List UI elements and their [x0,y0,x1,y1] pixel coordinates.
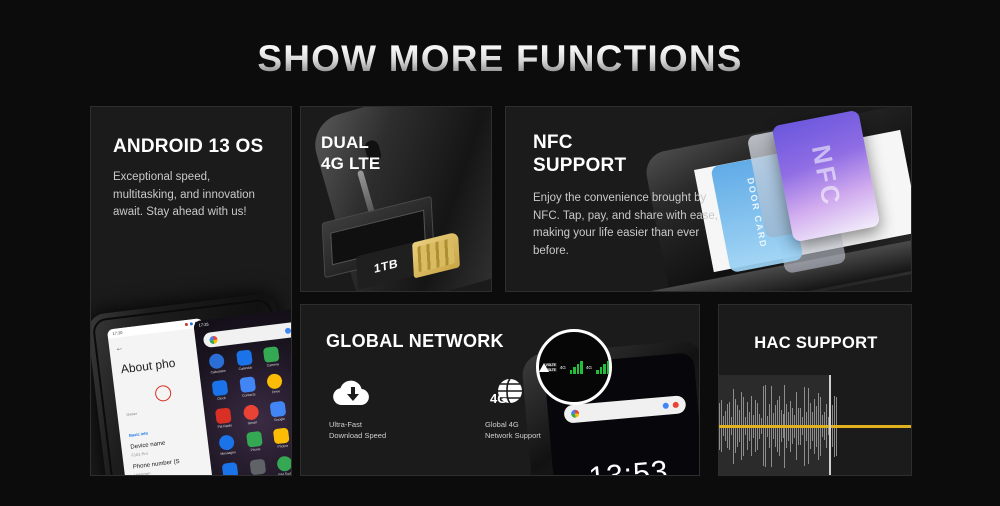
app-icon-messages[interactable]: Messages [212,434,242,458]
app-icon-settings[interactable]: Settings [243,458,273,476]
app-icon-calculator[interactable]: Calculator [202,352,232,376]
feature-download-caption: Ultra-Fast Download Speed [329,420,427,441]
app-icon-drive[interactable]: Drive [260,373,290,397]
dual-lte-title-line2: 4G LTE [321,154,380,175]
app-label: Calendar [239,366,253,371]
storage-capacity-label: 1TB [374,256,399,276]
app-label: Gmail [248,421,257,425]
app-icon-calendar[interactable]: Calendar [230,349,260,373]
app-icon-phone[interactable]: Phone [240,430,270,454]
nfc-body: Enjoy the convenience brought by NFC. Ta… [533,190,718,260]
app-label: FM Radio [217,424,232,429]
global-network-features: Ultra-Fast Download Speed 4G Global 4G N… [329,375,583,441]
global-network-title: GLOBAL NETWORK [326,331,504,353]
app-glyph [219,434,236,451]
promo-page: SHOW MORE FUNCTIONS ANDROID 13 OS Except… [0,0,1000,506]
app-icon-photos[interactable]: Photos [267,427,292,451]
app-label: Camera [267,363,279,368]
nfc-card-primary-label: NFC [805,142,847,209]
app-icon-camera[interactable]: Camera [257,345,287,369]
panel-dual-4g-lte: DUAL 4G LTE 1TB [300,106,492,292]
app-label: Drive [272,391,280,395]
waveform-playhead[interactable] [829,375,831,476]
app-icon-contacts[interactable]: Contacts [233,376,263,400]
nfc-title-line1: NFC [533,131,718,154]
app-icon-clock[interactable]: Clock [206,379,236,403]
app-glyph [276,455,292,472]
panel-global-network: 13:53 13:53 VOLTE VOLTE 4G [300,304,700,476]
app-label: Contacts [242,394,256,399]
dual-lte-header: DUAL 4G LTE [321,133,380,174]
settings-status-time: 17:20 [112,330,123,336]
app-glyph [212,380,229,397]
signal-tag-1: 4G [560,365,566,370]
app-label: Google [274,418,285,423]
wifi-icon [539,363,542,372]
feature-global-4g: 4G Global 4G Network Support [485,375,583,441]
app-glyph [243,404,260,421]
app-icon-google[interactable]: Google [264,400,292,424]
app-glyph [290,343,292,360]
panel-hac-support: HAC SUPPORT [718,304,912,476]
device-sub-label: Owner [126,402,213,417]
lens-icon[interactable] [672,402,679,409]
search-bar-actions[interactable] [285,326,292,334]
app-icon-chrome[interactable]: Chrome [284,342,292,366]
panel-nfc-support: SETUP DOOR CARD NFC NFC SUPPORT Enjoy th… [505,106,912,292]
search-bar-actions[interactable] [663,402,679,409]
signal-bars-sim2 [596,361,609,374]
dual-lte-title-line1: DUAL [321,133,380,154]
settings-row[interactable]: Device name F101 Pro [130,434,218,458]
nfc-title-line2: SUPPORT [533,154,718,177]
app-glyph [263,346,280,363]
app-glyph [270,401,287,418]
app-glyph [249,458,266,475]
global-network-header: GLOBAL NETWORK [326,331,504,353]
waveform-center-line [719,425,912,428]
hac-header: HAC SUPPORT [719,333,912,353]
app-label: Settings [253,475,266,476]
settings-row[interactable]: Phone number (S Unknown [133,454,221,476]
app-label: SIM Toolkit [278,472,292,476]
svg-text:4G: 4G [490,391,507,406]
app-label: Messages [220,451,236,456]
cloud-download-icon [329,375,373,411]
app-glyph [222,462,239,476]
app-icon-maps[interactable]: Maps [291,396,292,420]
app-label: Calculator [210,370,226,375]
app-glyph [246,431,263,448]
app-glyph [273,428,290,445]
device-illustration-icon [154,384,172,402]
android-os-body: Exceptional speed, multitasking, and inn… [113,169,273,221]
app-label: Phone [251,448,261,453]
microphone-icon[interactable] [285,327,292,334]
app-label: Photos [277,445,288,450]
app-label: Clock [217,397,226,401]
feature-global-4g-caption: Global 4G Network Support [485,420,583,441]
app-glyph [236,349,253,366]
about-phone-title: About pho [120,352,208,376]
app-icon-sim-toolkit[interactable]: SIM Toolkit [270,454,292,476]
android-os-title: ANDROID 13 OS [113,135,288,158]
app-icon-safety[interactable]: Safety [216,461,246,476]
hac-title: HAC SUPPORT [719,333,912,353]
signal-bars-sim1 [570,361,583,374]
app-glyph [266,373,283,390]
app-icon-gmail[interactable]: Gmail [236,403,266,427]
apps-status-time: 17:25 [198,321,209,327]
audio-waveform [719,375,912,476]
google-g-icon [209,335,218,344]
page-title: SHOW MORE FUNCTIONS [0,38,1000,80]
microphone-icon[interactable] [663,403,670,410]
app-glyph [209,353,226,370]
lock-screen-clock: 13:53 [552,452,700,476]
app-glyph [215,407,232,424]
panel-android-os: ANDROID 13 OS Exceptional speed, multita… [90,106,292,476]
app-grid[interactable]: CalculatorCalendarCameraChromeClockConta… [197,341,292,476]
app-icon-fm-radio[interactable]: FM Radio [209,406,239,430]
signal-tag-2: 4G [586,365,592,370]
feature-download-speed: Ultra-Fast Download Speed [329,375,427,441]
app-glyph [239,377,256,394]
android-os-header: ANDROID 13 OS Exceptional speed, multita… [113,135,288,222]
globe-4g-icon: 4G [485,375,529,411]
nfc-header: NFC SUPPORT Enjoy the convenience brough… [533,131,718,260]
